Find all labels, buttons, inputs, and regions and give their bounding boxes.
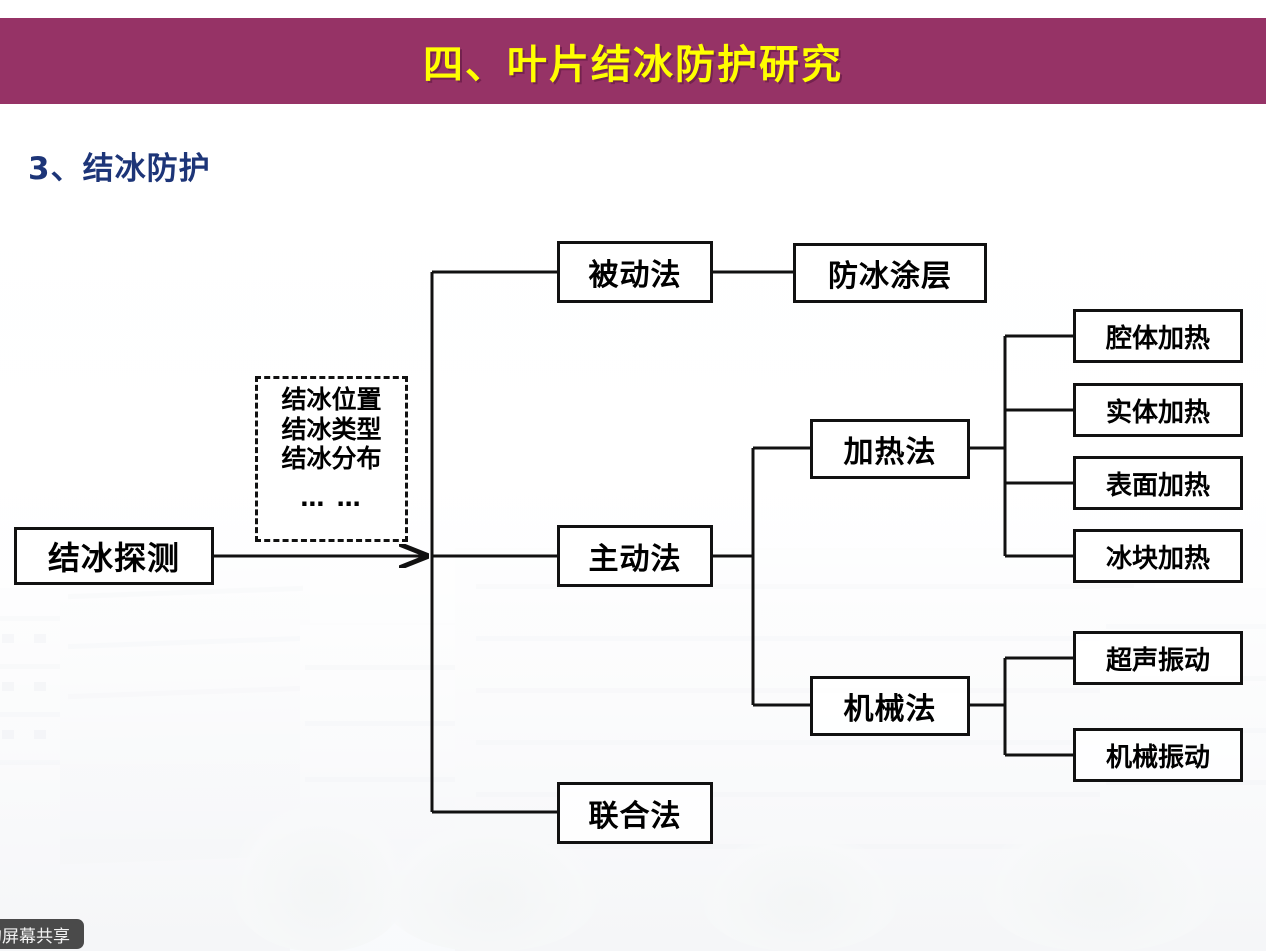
node-label: 机械振动 [1106,737,1210,774]
node-label: 冰块加热 [1106,538,1210,575]
page-title: 四、叶片结冰防护研究 [423,32,843,90]
node-mechanical-method[interactable]: 机械法 [810,676,970,736]
node-surface-heating[interactable]: 表面加热 [1073,456,1243,510]
node-label: 加热法 [844,427,937,471]
header-banner: 四、叶片结冰防护研究 [0,18,1266,104]
node-label: 机械法 [844,684,937,728]
node-label: 结冰探测 [48,533,180,579]
node-mechanical-vibration[interactable]: 机械振动 [1073,728,1243,782]
node-passive-method[interactable]: 被动法 [557,241,713,303]
node-active-method[interactable]: 主动法 [557,525,713,587]
node-solid-heating[interactable]: 实体加热 [1073,383,1243,437]
node-cavity-heating[interactable]: 腔体加热 [1073,309,1243,363]
slide-canvas: 四、叶片结冰防护研究 3、结冰防护 [0,0,1266,951]
node-ice-block-heating[interactable]: 冰块加热 [1073,529,1243,583]
annotation-line-1: 结冰位置 [281,385,381,415]
node-label: 主动法 [589,534,682,578]
node-label: 实体加热 [1106,392,1210,429]
screen-share-indicator: 电的屏幕共享 [0,919,84,949]
screen-share-label: 电的屏幕共享 [0,922,70,947]
node-label: 被动法 [589,250,682,294]
annotation-ellipsis: … … [300,484,362,512]
annotation-line-3: 结冰分布 [281,444,381,474]
section-subtitle: 3、结冰防护 [28,143,211,188]
node-label: 腔体加热 [1106,318,1210,355]
node-label: 超声振动 [1106,640,1210,677]
node-anti-icing-coating[interactable]: 防冰涂层 [793,243,987,303]
node-ice-detection[interactable]: 结冰探测 [14,527,214,585]
annotation-line-2: 结冰类型 [281,415,381,445]
node-heating-method[interactable]: 加热法 [810,419,970,479]
node-combined-method[interactable]: 联合法 [557,782,713,844]
annotation-ice-attributes: 结冰位置 结冰类型 结冰分布 … … [255,376,408,542]
node-label: 防冰涂层 [828,251,952,295]
node-label: 表面加热 [1106,465,1210,502]
node-ultrasonic-vibration[interactable]: 超声振动 [1073,631,1243,685]
node-label: 联合法 [589,791,682,835]
